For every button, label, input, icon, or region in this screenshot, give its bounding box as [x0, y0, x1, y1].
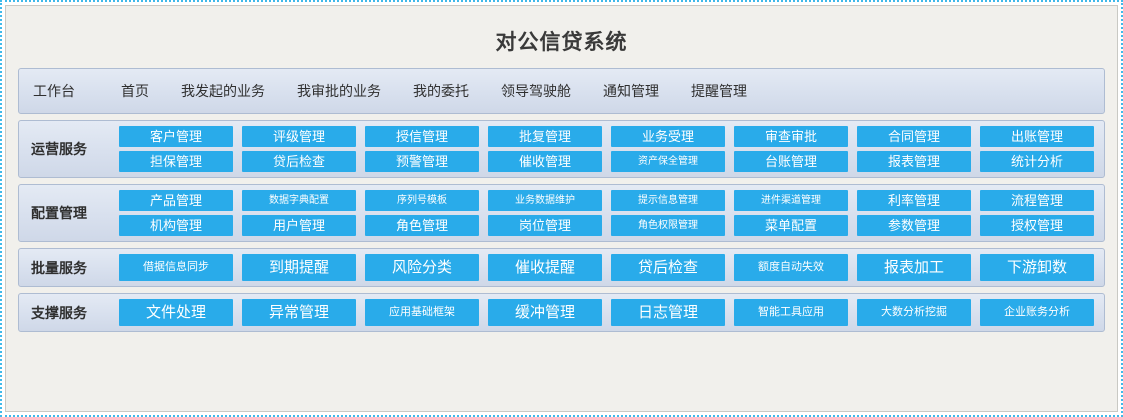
module-tile[interactable]: 数据字典配置: [242, 190, 356, 211]
module-tile[interactable]: 机构管理: [119, 215, 233, 236]
module-tile[interactable]: 应用基础框架: [365, 299, 479, 326]
section-tile-grid: 客户管理评级管理授信管理批复管理业务受理审查审批合同管理出账管理担保管理贷后检查…: [119, 126, 1094, 172]
module-tile[interactable]: 文件处理: [119, 299, 233, 326]
section-tile-grid: 文件处理异常管理应用基础框架缓冲管理日志管理智能工具应用大数分析挖掘企业账务分析: [119, 299, 1094, 326]
nav-item-1[interactable]: 首页: [105, 81, 165, 101]
service-section: 批量服务借据信息同步到期提醒风险分类催收提醒贷后检查额度自动失效报表加工下游卸数: [18, 248, 1105, 287]
module-tile[interactable]: 角色权限管理: [611, 215, 725, 236]
module-tile[interactable]: 台账管理: [734, 151, 848, 172]
module-tile[interactable]: 进件渠道管理: [734, 190, 848, 211]
service-section: 支撑服务文件处理异常管理应用基础框架缓冲管理日志管理智能工具应用大数分析挖掘企业…: [18, 293, 1105, 332]
module-tile[interactable]: 预警管理: [365, 151, 479, 172]
module-tile[interactable]: 资产保全管理: [611, 151, 725, 172]
module-tile[interactable]: 智能工具应用: [734, 299, 848, 326]
module-tile[interactable]: 岗位管理: [488, 215, 602, 236]
module-tile[interactable]: 企业账务分析: [980, 299, 1094, 326]
module-tile[interactable]: 异常管理: [242, 299, 356, 326]
module-tile[interactable]: 下游卸数: [980, 254, 1094, 281]
module-tile[interactable]: 风险分类: [365, 254, 479, 281]
module-tile[interactable]: 业务数据维护: [488, 190, 602, 211]
module-tile[interactable]: 贷后检查: [242, 151, 356, 172]
app-frame: 对公信贷系统 工作台首页我发起的业务我审批的业务我的委托领导驾驶舱通知管理提醒管…: [0, 0, 1123, 417]
service-section: 配置管理产品管理数据字典配置序列号模板业务数据维护提示信息管理进件渠道管理利率管…: [18, 184, 1105, 242]
nav-item-7[interactable]: 提醒管理: [675, 81, 763, 101]
section-label: 支撑服务: [31, 303, 119, 323]
module-tile[interactable]: 日志管理: [611, 299, 725, 326]
nav-item-2[interactable]: 我发起的业务: [165, 81, 281, 101]
title-bar: 对公信贷系统: [18, 14, 1105, 68]
module-tile[interactable]: 报表管理: [857, 151, 971, 172]
section-tile-grid: 借据信息同步到期提醒风险分类催收提醒贷后检查额度自动失效报表加工下游卸数: [119, 254, 1094, 281]
module-tile[interactable]: 提示信息管理: [611, 190, 725, 211]
module-tile[interactable]: 菜单配置: [734, 215, 848, 236]
section-label: 批量服务: [31, 258, 119, 278]
module-tile[interactable]: 评级管理: [242, 126, 356, 147]
module-tile[interactable]: 产品管理: [119, 190, 233, 211]
module-tile[interactable]: 流程管理: [980, 190, 1094, 211]
section-tile-grid: 产品管理数据字典配置序列号模板业务数据维护提示信息管理进件渠道管理利率管理流程管…: [119, 190, 1094, 236]
nav-item-3[interactable]: 我审批的业务: [281, 81, 397, 101]
module-tile[interactable]: 合同管理: [857, 126, 971, 147]
module-tile[interactable]: 审查审批: [734, 126, 848, 147]
module-tile[interactable]: 参数管理: [857, 215, 971, 236]
nav-item-5[interactable]: 领导驾驶舱: [485, 81, 587, 101]
module-tile[interactable]: 担保管理: [119, 151, 233, 172]
module-tile[interactable]: 报表加工: [857, 254, 971, 281]
page-title: 对公信贷系统: [496, 26, 628, 56]
module-tile[interactable]: 批复管理: [488, 126, 602, 147]
nav-item-4[interactable]: 我的委托: [397, 81, 485, 101]
nav-item-6[interactable]: 通知管理: [587, 81, 675, 101]
section-label: 运营服务: [31, 139, 119, 159]
module-tile[interactable]: 借据信息同步: [119, 254, 233, 281]
module-tile[interactable]: 业务受理: [611, 126, 725, 147]
service-section: 运营服务客户管理评级管理授信管理批复管理业务受理审查审批合同管理出账管理担保管理…: [18, 120, 1105, 178]
app-shell: 对公信贷系统 工作台首页我发起的业务我审批的业务我的委托领导驾驶舱通知管理提醒管…: [5, 5, 1118, 412]
module-tile[interactable]: 利率管理: [857, 190, 971, 211]
module-tile[interactable]: 额度自动失效: [734, 254, 848, 281]
section-label: 配置管理: [31, 203, 119, 223]
module-tile[interactable]: 序列号模板: [365, 190, 479, 211]
service-sections: 运营服务客户管理评级管理授信管理批复管理业务受理审查审批合同管理出账管理担保管理…: [18, 120, 1105, 338]
module-tile[interactable]: 大数分析挖掘: [857, 299, 971, 326]
module-tile[interactable]: 出账管理: [980, 126, 1094, 147]
module-tile[interactable]: 角色管理: [365, 215, 479, 236]
module-tile[interactable]: 催收提醒: [488, 254, 602, 281]
nav-item-0[interactable]: 工作台: [33, 81, 105, 101]
module-tile[interactable]: 授权管理: [980, 215, 1094, 236]
main-navigation: 工作台首页我发起的业务我审批的业务我的委托领导驾驶舱通知管理提醒管理: [18, 68, 1105, 114]
module-tile[interactable]: 缓冲管理: [488, 299, 602, 326]
module-tile[interactable]: 催收管理: [488, 151, 602, 172]
module-tile[interactable]: 客户管理: [119, 126, 233, 147]
module-tile[interactable]: 用户管理: [242, 215, 356, 236]
module-tile[interactable]: 贷后检查: [611, 254, 725, 281]
module-tile[interactable]: 统计分析: [980, 151, 1094, 172]
module-tile[interactable]: 到期提醒: [242, 254, 356, 281]
module-tile[interactable]: 授信管理: [365, 126, 479, 147]
